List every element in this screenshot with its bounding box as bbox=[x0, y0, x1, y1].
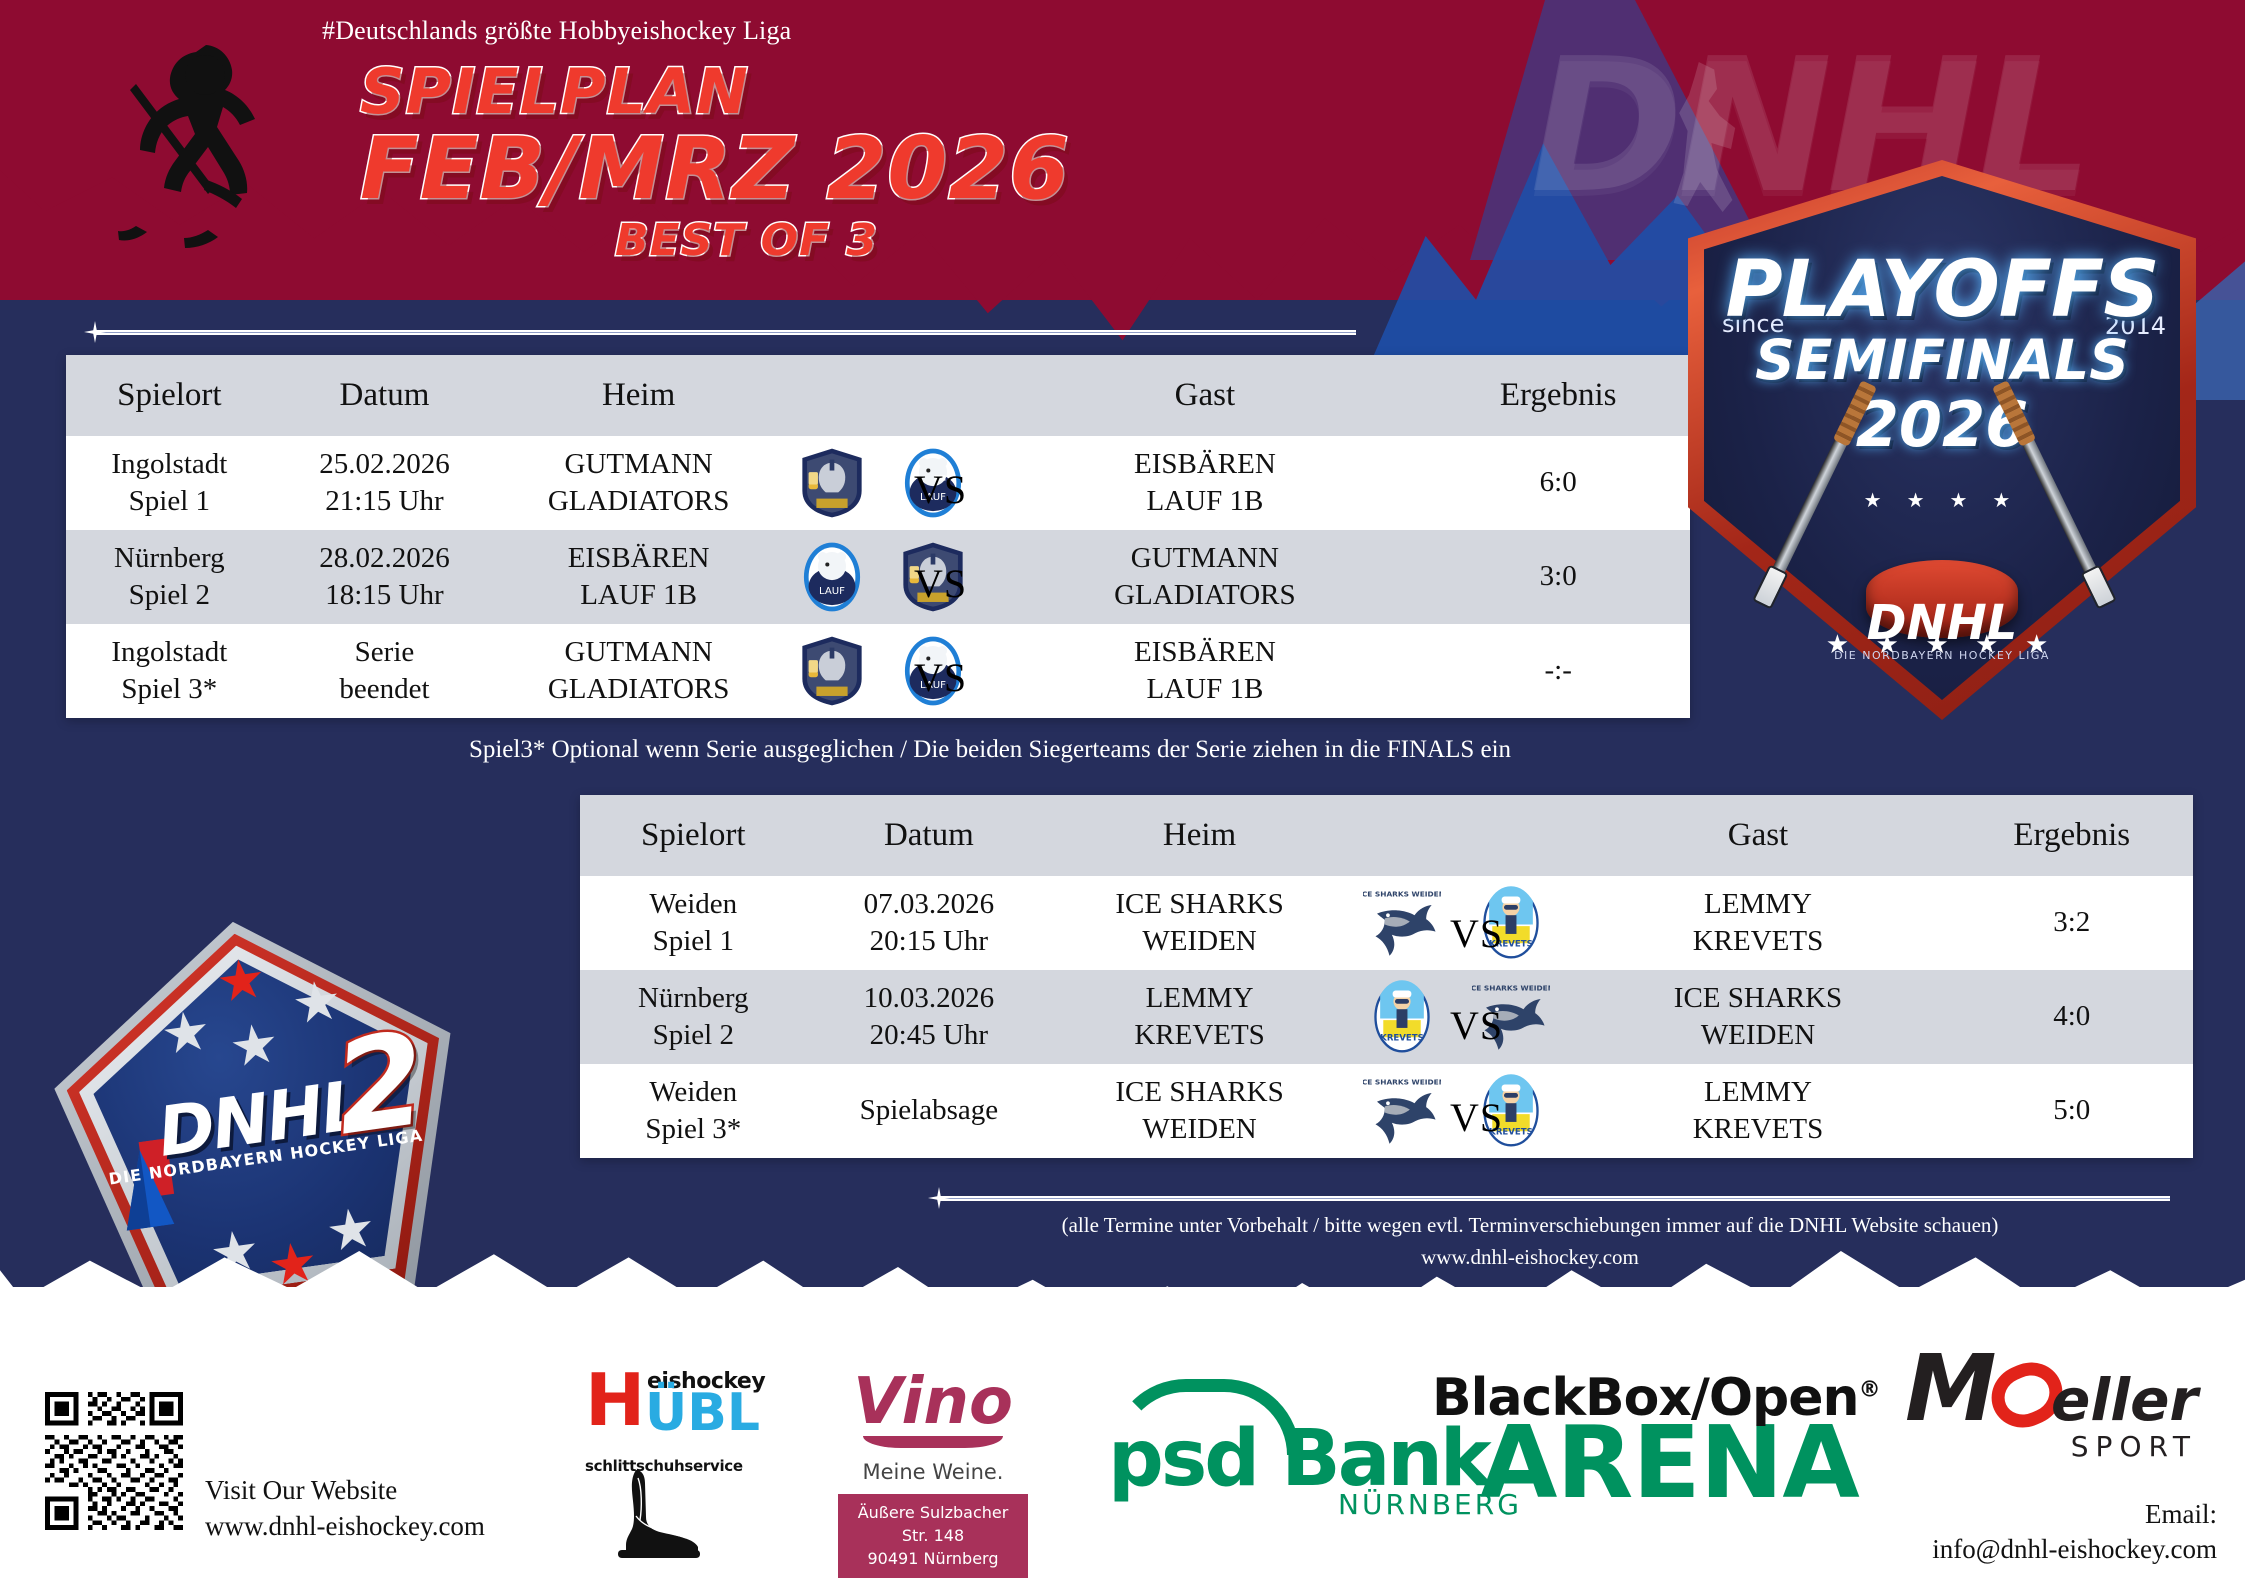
spielort-game: Spiel 1 bbox=[72, 483, 267, 520]
heim-name-2: KREVETS bbox=[1057, 1017, 1342, 1054]
sharks-crest-icon: ICE SHARKS WEIDEN bbox=[1363, 884, 1441, 962]
hockey-player-icon bbox=[100, 30, 300, 270]
moeller-letter-m: M bbox=[1905, 1352, 1997, 1426]
spielort-city: Nürnberg bbox=[586, 980, 801, 1017]
datum-time: beendet bbox=[279, 671, 491, 708]
cell-heim: LEMMY KREVETS bbox=[1051, 970, 1348, 1064]
col-spielort: Spielort bbox=[66, 355, 273, 436]
cell-heim: GUTMANN GLADIATORS bbox=[496, 624, 781, 718]
heim-name-2: WEIDEN bbox=[1057, 1111, 1342, 1148]
gast-name-1: ICE SHARKS bbox=[1571, 980, 1944, 1017]
col-heim: Heim bbox=[1051, 795, 1348, 876]
heim-name-2: LAUF 1B bbox=[502, 577, 775, 614]
datum-date: 28.02.2026 bbox=[279, 540, 491, 577]
gast-name-1: LEMMY bbox=[1571, 886, 1944, 923]
title-spielplan: SPIELPLAN bbox=[360, 62, 1070, 123]
cell-gast: LEMMY KREVETS bbox=[1565, 876, 1950, 970]
sponsor-vino: Vino Meine Weine. Äußere Sulzbacher Str.… bbox=[838, 1370, 1028, 1578]
col-ergebnis: Ergebnis bbox=[1951, 795, 2193, 876]
arena-name: ARENA bbox=[1480, 1418, 1859, 1508]
cell-ergebnis: 4:0 bbox=[1951, 970, 2193, 1064]
datum-time: 20:15 Uhr bbox=[813, 923, 1046, 960]
registered-mark-icon: ® bbox=[1859, 1378, 1880, 1403]
vino-tagline: Meine Weine. bbox=[838, 1460, 1028, 1484]
vs-label: VS bbox=[1450, 1002, 1503, 1049]
poster-canvas: DNHL #Deutschlands größte Hobbyeishockey… bbox=[0, 0, 2245, 1587]
gast-name-1: LEMMY bbox=[1571, 1074, 1944, 1111]
eisbaeren-crest-icon: LAUF bbox=[793, 538, 871, 616]
datum-time: 20:45 Uhr bbox=[813, 1017, 1046, 1054]
ice-skate-icon bbox=[612, 1466, 704, 1566]
disclaimer-line-2: www.dnhl-eishockey.com bbox=[940, 1242, 2120, 1274]
vino-name: Vino bbox=[838, 1370, 1028, 1434]
hubl-letters-ubl: ÜBL bbox=[645, 1391, 760, 1435]
spielort-game: Spiel 2 bbox=[72, 577, 267, 614]
cell-heim-crest: ICE SHARKS WEIDEN bbox=[1348, 876, 1457, 970]
gladiators-crest-icon bbox=[793, 632, 871, 710]
spielort-game: Spiel 1 bbox=[586, 923, 801, 960]
datum-date: 07.03.2026 bbox=[813, 886, 1046, 923]
blackbox-name: BlackBox/Open bbox=[1432, 1368, 1859, 1428]
datum-time: 21:15 Uhr bbox=[279, 483, 491, 520]
gast-name-1: GUTMANN bbox=[989, 540, 1420, 577]
table-header-row: Spielort Datum Heim Gast Ergebnis bbox=[580, 795, 2193, 876]
cell-heim-crest: KREVETS bbox=[1348, 970, 1457, 1064]
title-best-of-3: BEST OF 3 bbox=[615, 219, 1070, 262]
col-spielort: Spielort bbox=[580, 795, 807, 876]
cell-datum: 07.03.2026 20:15 Uhr bbox=[807, 876, 1052, 970]
cell-datum: Serie beendet bbox=[273, 624, 497, 718]
cell-ergebnis: -:- bbox=[1426, 624, 1690, 718]
spielort-city: Nürnberg bbox=[72, 540, 267, 577]
cell-heim-crest: LAUF bbox=[781, 530, 882, 624]
cell-spielort: Weiden Spiel 1 bbox=[580, 876, 807, 970]
cell-spielort: Ingolstadt Spiel 1 bbox=[66, 436, 273, 530]
dnhl2-number: 2 bbox=[327, 1015, 433, 1154]
gladiators-crest-icon bbox=[793, 444, 871, 522]
cell-datum: Spielabsage bbox=[807, 1064, 1052, 1158]
heim-name-2: GLADIATORS bbox=[502, 671, 775, 708]
cell-datum: 28.02.2026 18:15 Uhr bbox=[273, 530, 497, 624]
cell-gast: GUTMANN GLADIATORS bbox=[983, 530, 1426, 624]
visit-website-url[interactable]: www.dnhl-eishockey.com bbox=[205, 1508, 485, 1544]
col-gast-crest bbox=[1457, 795, 1566, 876]
email-label: Email: bbox=[1932, 1497, 2217, 1532]
table-row[interactable]: Nürnberg Spiel 2 28.02.2026 18:15 Uhr EI… bbox=[66, 530, 1690, 624]
cell-spielort: Weiden Spiel 3* bbox=[580, 1064, 807, 1158]
shield-semifinals-text: SEMIFINALS bbox=[1688, 328, 2196, 392]
schedule-table-semifinal-a: Spielort Datum Heim Gast Ergebnis Ingols… bbox=[66, 355, 1690, 718]
table1-footnote: Spiel3* Optional wenn Serie ausgeglichen… bbox=[340, 736, 1640, 764]
moeller-eller-text: eller bbox=[2051, 1366, 2198, 1434]
datum-time: 18:15 Uhr bbox=[279, 577, 491, 614]
tagline: #Deutschlands größte Hobbyeishockey Liga bbox=[322, 16, 791, 46]
vino-address-street: Äußere Sulzbacher Str. 148 bbox=[844, 1501, 1022, 1547]
cell-gast: EISBÄREN LAUF 1B bbox=[983, 624, 1426, 718]
table-row[interactable]: Weiden Spiel 3* Spielabsage ICE SHARKS W… bbox=[580, 1064, 2193, 1158]
spielort-game: Spiel 2 bbox=[586, 1017, 801, 1054]
shield-playoffs-text: PLAYOFFS bbox=[1688, 245, 2196, 335]
schedule-table-semifinal-b: Spielort Datum Heim Gast Ergebnis Weiden… bbox=[580, 795, 2193, 1158]
sponsor-psd-bank-arena: psd Bank NÜRNBERG bbox=[1108, 1425, 1522, 1521]
title-block: SPIELPLAN FEB/MRZ 2026 BEST OF 3 bbox=[360, 62, 1070, 262]
svg-text:ICE SHARKS WEIDEN: ICE SHARKS WEIDEN bbox=[1363, 889, 1441, 898]
gast-name-2: WEIDEN bbox=[1571, 1017, 1944, 1054]
spielort-city: Ingolstadt bbox=[72, 446, 267, 483]
moeller-logo: M eller bbox=[1905, 1358, 2205, 1434]
spielort-city: Weiden bbox=[586, 1074, 801, 1111]
cell-heim-crest: ICE SHARKS WEIDEN bbox=[1348, 1064, 1457, 1158]
cell-heim: ICE SHARKS WEIDEN bbox=[1051, 1064, 1348, 1158]
cell-datum: 10.03.2026 20:45 Uhr bbox=[807, 970, 1052, 1064]
vino-address: Äußere Sulzbacher Str. 148 90491 Nürnber… bbox=[838, 1494, 1028, 1578]
heim-name-2: GLADIATORS bbox=[502, 483, 775, 520]
divider-bottom bbox=[940, 1196, 2170, 1201]
datum-date: 25.02.2026 bbox=[279, 446, 491, 483]
cell-gast: LEMMY KREVETS bbox=[1565, 1064, 1950, 1158]
moeller-sport-text: SPORT bbox=[2071, 1430, 2197, 1463]
cell-gast: ICE SHARKS WEIDEN bbox=[1565, 970, 1950, 1064]
vs-label: VS bbox=[1450, 1094, 1503, 1141]
col-datum: Datum bbox=[807, 795, 1052, 876]
col-datum: Datum bbox=[273, 355, 497, 436]
table-row[interactable]: Ingolstadt Spiel 1 25.02.2026 21:15 Uhr … bbox=[66, 436, 1690, 530]
col-gast-crest bbox=[882, 355, 983, 436]
col-heim: Heim bbox=[496, 355, 781, 436]
shield-dnhl-text: DNHL bbox=[1867, 595, 2018, 651]
sponsor-hubl: H eishockey ÜBL schlittschuhservice bbox=[585, 1367, 745, 1475]
heim-name-1: EISBÄREN bbox=[502, 540, 775, 577]
qr-code-icon[interactable] bbox=[45, 1392, 183, 1530]
visit-website-block[interactable]: Visit Our Website www.dnhl-eishockey.com bbox=[205, 1472, 485, 1545]
gast-name-2: LAUF 1B bbox=[989, 671, 1420, 708]
cell-gast: EISBÄREN LAUF 1B bbox=[983, 436, 1426, 530]
vs-label: VS bbox=[914, 560, 967, 607]
divider-top bbox=[96, 330, 1356, 335]
hubl-logo: H eishockey ÜBL bbox=[585, 1367, 745, 1455]
col-heim-crest bbox=[781, 355, 882, 436]
cell-heim-crest bbox=[781, 436, 882, 530]
datum-date: Serie bbox=[279, 634, 491, 671]
cell-ergebnis: 5:0 bbox=[1951, 1064, 2193, 1158]
table-row[interactable]: Nürnberg Spiel 2 10.03.2026 20:45 Uhr LE… bbox=[580, 970, 2193, 1064]
sharks-crest-icon: ICE SHARKS WEIDEN bbox=[1363, 1072, 1441, 1150]
col-ergebnis: Ergebnis bbox=[1426, 355, 1690, 436]
vino-address-city: 90491 Nürnberg bbox=[844, 1547, 1022, 1570]
table-header-row: Spielort Datum Heim Gast Ergebnis bbox=[66, 355, 1690, 436]
heim-name-2: WEIDEN bbox=[1057, 923, 1342, 960]
gast-name-2: GLADIATORS bbox=[989, 577, 1420, 614]
spielort-city: Ingolstadt bbox=[72, 634, 267, 671]
gast-name-2: KREVETS bbox=[1571, 1111, 1944, 1148]
gast-name-2: KREVETS bbox=[1571, 923, 1944, 960]
shield-year-text: 2026 bbox=[1688, 388, 2196, 461]
cell-heim: ICE SHARKS WEIDEN bbox=[1051, 876, 1348, 970]
cell-spielort: Nürnberg Spiel 2 bbox=[580, 970, 807, 1064]
shield-dnhl-logo: DNHL DIE NORDBAYERN HOCKEY LIGA bbox=[1688, 595, 2196, 662]
cell-datum: 25.02.2026 21:15 Uhr bbox=[273, 436, 497, 530]
cell-heim-crest bbox=[781, 624, 882, 718]
spielort-city: Weiden bbox=[586, 886, 801, 923]
cell-spielort: Ingolstadt Spiel 3* bbox=[66, 624, 273, 718]
playoffs-shield-badge: since 2014 PLAYOFFS SEMIFINALS 2026 ★ ★ … bbox=[1688, 160, 2196, 720]
svg-text:ICE SHARKS WEIDEN: ICE SHARKS WEIDEN bbox=[1363, 1077, 1441, 1086]
cell-heim: GUTMANN GLADIATORS bbox=[496, 436, 781, 530]
heim-name-1: ICE SHARKS bbox=[1057, 886, 1342, 923]
vs-label: VS bbox=[1450, 910, 1503, 957]
cell-ergebnis: 3:0 bbox=[1426, 530, 1690, 624]
disclaimer: (alle Termine unter Vorbehalt / bitte we… bbox=[940, 1210, 2120, 1273]
krevets-crest-icon: KREVETS bbox=[1363, 978, 1441, 1056]
spielort-game: Spiel 3* bbox=[72, 671, 267, 708]
gast-name-2: LAUF 1B bbox=[989, 483, 1420, 520]
sponsor-moeller-sport: M eller SPORT bbox=[1905, 1358, 2205, 1434]
svg-text:LAUF: LAUF bbox=[819, 586, 845, 597]
cell-ergebnis: 3:2 bbox=[1951, 876, 2193, 970]
title-month-year: FEB/MRZ 2026 bbox=[360, 127, 1070, 211]
shield-dnhl-subtitle: DIE NORDBAYERN HOCKEY LIGA bbox=[1688, 649, 2196, 662]
table-row[interactable]: Weiden Spiel 1 07.03.2026 20:15 Uhr ICE … bbox=[580, 876, 2193, 970]
cell-ergebnis: 6:0 bbox=[1426, 436, 1690, 530]
gast-name-1: EISBÄREN bbox=[989, 446, 1420, 483]
spielort-game: Spiel 3* bbox=[586, 1111, 801, 1148]
svg-text:KREVETS: KREVETS bbox=[1380, 1033, 1424, 1043]
hubl-letter-h: H bbox=[585, 1371, 645, 1430]
cell-spielort: Nürnberg Spiel 2 bbox=[66, 530, 273, 624]
visit-website-label: Visit Our Website bbox=[205, 1472, 485, 1508]
gast-name-1: EISBÄREN bbox=[989, 634, 1420, 671]
sponsor-blackbox-open: BlackBox/Open® bbox=[1432, 1368, 1880, 1428]
svg-text:ICE SHARKS WEIDEN: ICE SHARKS WEIDEN bbox=[1472, 983, 1550, 992]
col-gast: Gast bbox=[1565, 795, 1950, 876]
col-gast: Gast bbox=[983, 355, 1426, 436]
datum-date: 10.03.2026 bbox=[813, 980, 1046, 1017]
cell-heim: EISBÄREN LAUF 1B bbox=[496, 530, 781, 624]
vs-label: VS bbox=[914, 654, 967, 701]
heim-name-1: ICE SHARKS bbox=[1057, 1074, 1342, 1111]
table-row[interactable]: Ingolstadt Spiel 3* Serie beendet GUTMAN… bbox=[66, 624, 1690, 718]
shield-stars-top: ★ ★ ★ ★ bbox=[1688, 488, 2196, 513]
email-value[interactable]: info@dnhl-eishockey.com bbox=[1932, 1532, 2217, 1567]
disclaimer-line-1: (alle Termine unter Vorbehalt / bitte we… bbox=[940, 1210, 2120, 1242]
vs-label: VS bbox=[914, 466, 967, 513]
heim-name-1: GUTMANN bbox=[502, 634, 775, 671]
contact-email-block: Email: info@dnhl-eishockey.com bbox=[1932, 1497, 2217, 1567]
col-heim-crest bbox=[1348, 795, 1457, 876]
heim-name-1: LEMMY bbox=[1057, 980, 1342, 1017]
heim-name-1: GUTMANN bbox=[502, 446, 775, 483]
